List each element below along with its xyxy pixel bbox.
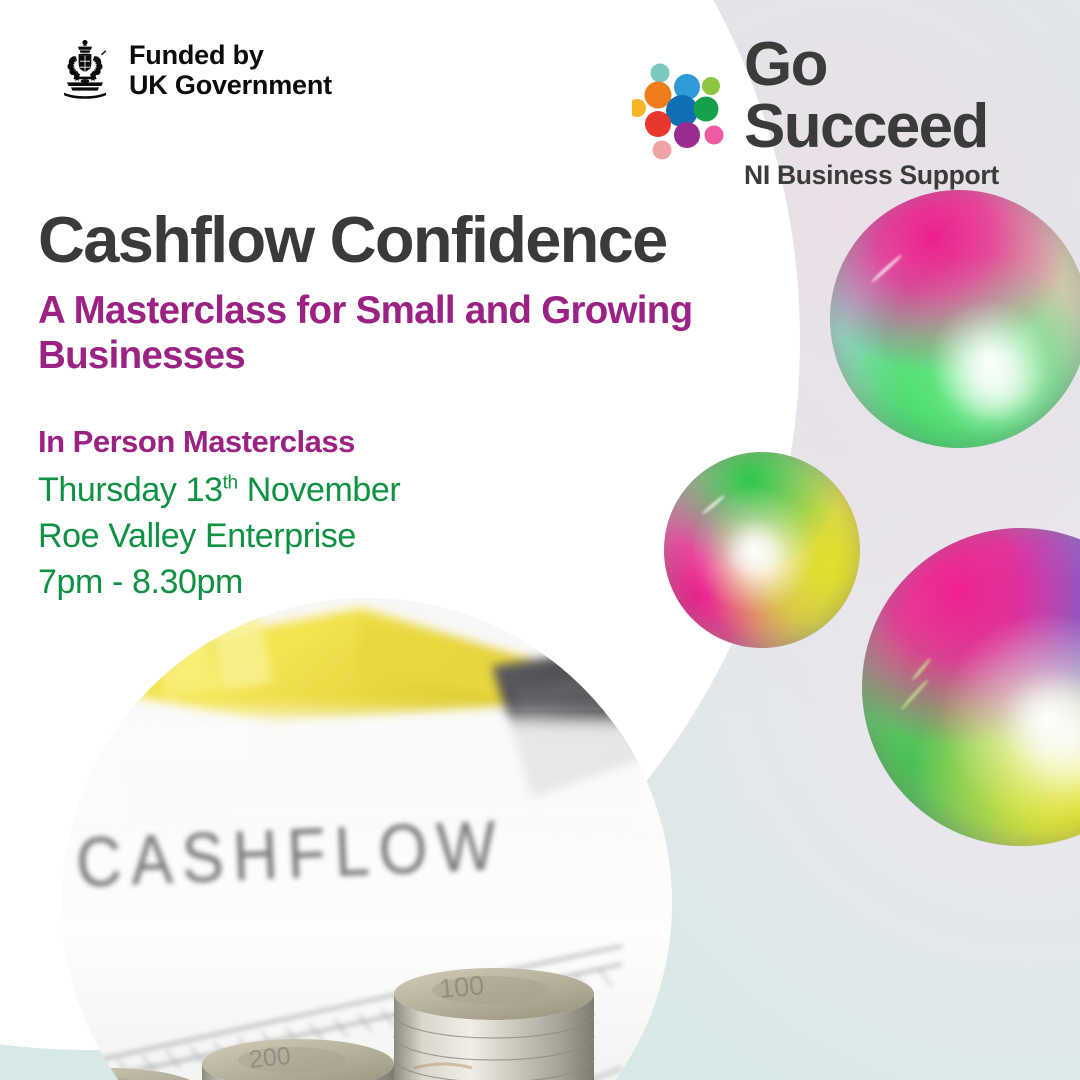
svg-text:200: 200	[248, 1042, 292, 1074]
event-venue: Roe Valley Enterprise	[38, 513, 400, 559]
brand-dot-8	[674, 122, 700, 148]
brand-dot-5	[694, 97, 719, 122]
decorative-sphere-top-right	[830, 190, 1080, 448]
brand-dot-0	[651, 64, 670, 83]
page-subtitle: A Masterclass for Small and Growing Busi…	[38, 288, 718, 379]
brand-dot-7	[645, 111, 671, 137]
brand-dot-9	[705, 126, 724, 145]
event-date: Thursday 13th November	[38, 467, 400, 513]
cashflow-photo-illustration: CASHFLOW	[62, 598, 672, 1080]
go-succeed-dot-cluster-icon	[632, 61, 736, 161]
brand-dot-2	[702, 77, 720, 95]
go-succeed-title: Go Succeed	[744, 34, 1080, 158]
cashflow-photo: CASHFLOW	[62, 598, 672, 1080]
event-details-block: In Person Masterclass Thursday 13th Nove…	[38, 424, 400, 606]
sphere-rim-shading	[664, 452, 860, 648]
event-format-heading: In Person Masterclass	[38, 424, 400, 460]
uk-royal-coat-of-arms-icon	[55, 38, 115, 102]
headline-block: Cashflow Confidence A Masterclass for Sm…	[38, 206, 748, 378]
go-succeed-logo: Go Succeed NI Business Support	[632, 34, 1080, 189]
poster-canvas: Funded by UK Government Go Succeed NI Bu…	[0, 0, 1080, 1080]
brand-dot-10	[653, 141, 672, 160]
funded-by-uk-government-logo: Funded by UK Government	[55, 38, 332, 102]
funded-by-uk-government-text: Funded by UK Government	[129, 40, 332, 100]
sphere-rim-shading	[830, 190, 1080, 448]
event-date-prefix: Thursday 13	[38, 471, 223, 509]
go-succeed-wordmark: Go Succeed NI Business Support	[744, 34, 1080, 189]
svg-text:100: 100	[438, 970, 486, 1004]
decorative-sphere-middle	[664, 452, 860, 648]
go-succeed-subtitle: NI Business Support	[744, 162, 1080, 189]
page-title: Cashflow Confidence	[38, 206, 748, 274]
event-date-suffix: November	[238, 471, 401, 509]
brand-dot-6	[632, 99, 646, 117]
event-date-ordinal: th	[223, 473, 238, 494]
